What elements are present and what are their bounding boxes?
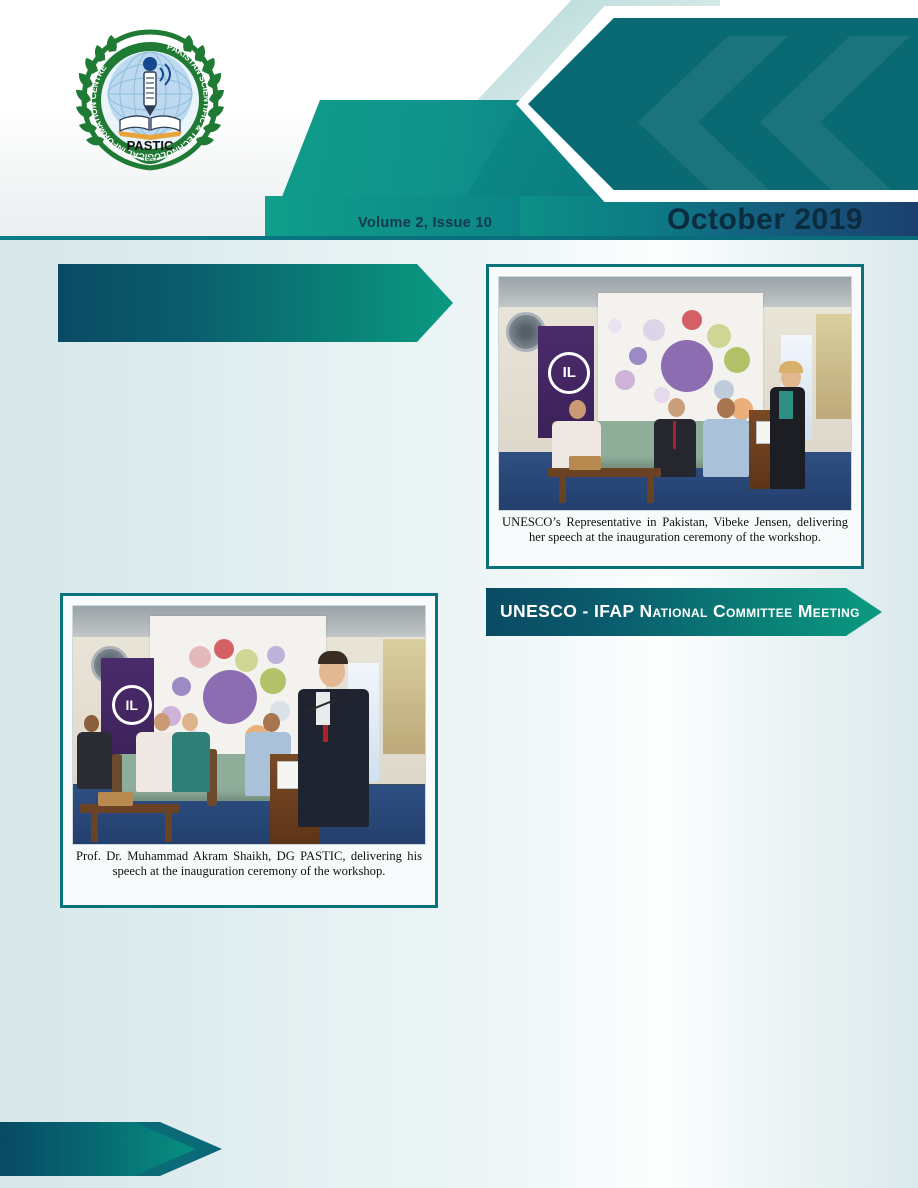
issue-date-label: October 2019 (667, 203, 863, 237)
section-heading-label: UNESCO - IFAP National Committee Meeting (500, 602, 860, 622)
footer-arrow-banner (0, 1122, 222, 1176)
photo-akram-shaikh: IL (72, 605, 426, 845)
photo-caption: UNESCO’s Representative in Pakistan, Vib… (498, 515, 852, 545)
photo-caption: Prof. Dr. Muhammad Akram Shaikh, DG PAST… (72, 849, 426, 879)
photo-card-akram-shaikh: IL (60, 593, 438, 908)
photo-vibeke-jensen: IL (498, 276, 852, 511)
section-heading-banner: UNESCO - IFAP National Committee Meeting (486, 588, 882, 636)
logo-year-text: 1957 (142, 157, 158, 164)
issue-volume-label: Volume 2, Issue 10 (358, 215, 492, 231)
chevron-left-icon (760, 36, 910, 208)
page-header: Volume 2, Issue 10 October 2019 (0, 0, 918, 240)
newsletter-page: Volume 2, Issue 10 October 2019 (0, 0, 918, 1188)
top-left-arrow-banner (58, 264, 453, 342)
photo-card-vibeke-jensen: IL (486, 264, 864, 569)
arrow-banner-shape (58, 264, 453, 342)
pastic-logo: PASTIC PAKISTAN SCIENTIFIC & TECHNOLOGIC… (72, 24, 228, 174)
